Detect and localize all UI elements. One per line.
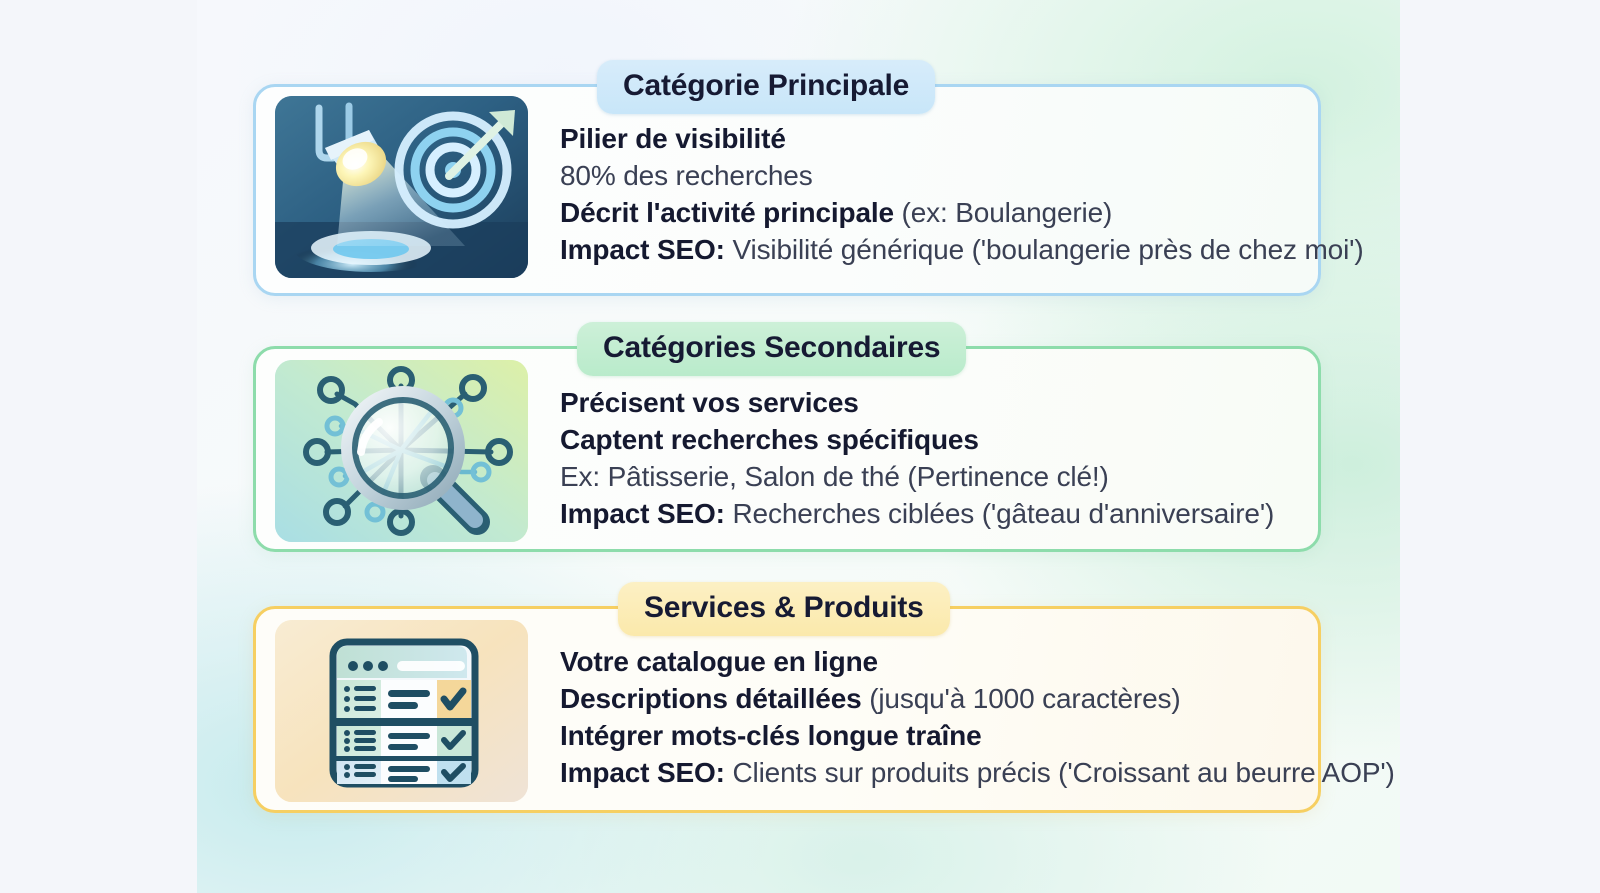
text-categorie-principale: Pilier de visibilité 80% des recherches …: [560, 120, 1364, 268]
badge-services-produits[interactable]: Services & Produits: [618, 582, 950, 636]
card3-line-1: Votre catalogue en ligne: [560, 643, 1395, 680]
card1-line-4: Impact SEO: Visibilité générique ('boula…: [560, 231, 1364, 268]
text-services-produits: Votre catalogue en ligne Descriptions dé…: [560, 643, 1395, 791]
card1-line-1: Pilier de visibilité: [560, 120, 1364, 157]
infographic-stage: Catégorie Principale Pilier de visibilit…: [0, 0, 1600, 893]
card2-line-2: Captent recherches spécifiques: [560, 421, 1274, 458]
badge-categorie-principale[interactable]: Catégorie Principale: [597, 60, 935, 114]
badge-categories-secondaires[interactable]: Catégories Secondaires: [577, 322, 966, 376]
card3-line-2: Descriptions détaillées (jusqu'à 1000 ca…: [560, 680, 1395, 717]
spotlight-target-illustration: [275, 96, 528, 278]
catalog-window-checklist-illustration: [275, 620, 528, 802]
frame-band-right: [1400, 0, 1600, 893]
card2-line-3: Ex: Pâtisserie, Salon de thé (Pertinence…: [560, 458, 1274, 495]
text-categories-secondaires: Précisent vos services Captent recherche…: [560, 384, 1274, 532]
card2-line-4: Impact SEO: Recherches ciblées ('gâteau …: [560, 495, 1274, 532]
magnifier-network-illustration: [275, 360, 528, 542]
card3-line-4: Impact SEO: Clients sur produits précis …: [560, 754, 1395, 791]
card1-line-3: Décrit l'activité principale (ex: Boulan…: [560, 194, 1364, 231]
card1-line-2: 80% des recherches: [560, 157, 1364, 194]
frame-band-left: [0, 0, 197, 893]
card2-line-1: Précisent vos services: [560, 384, 1274, 421]
card3-line-3: Intégrer mots-clés longue traîne: [560, 717, 1395, 754]
